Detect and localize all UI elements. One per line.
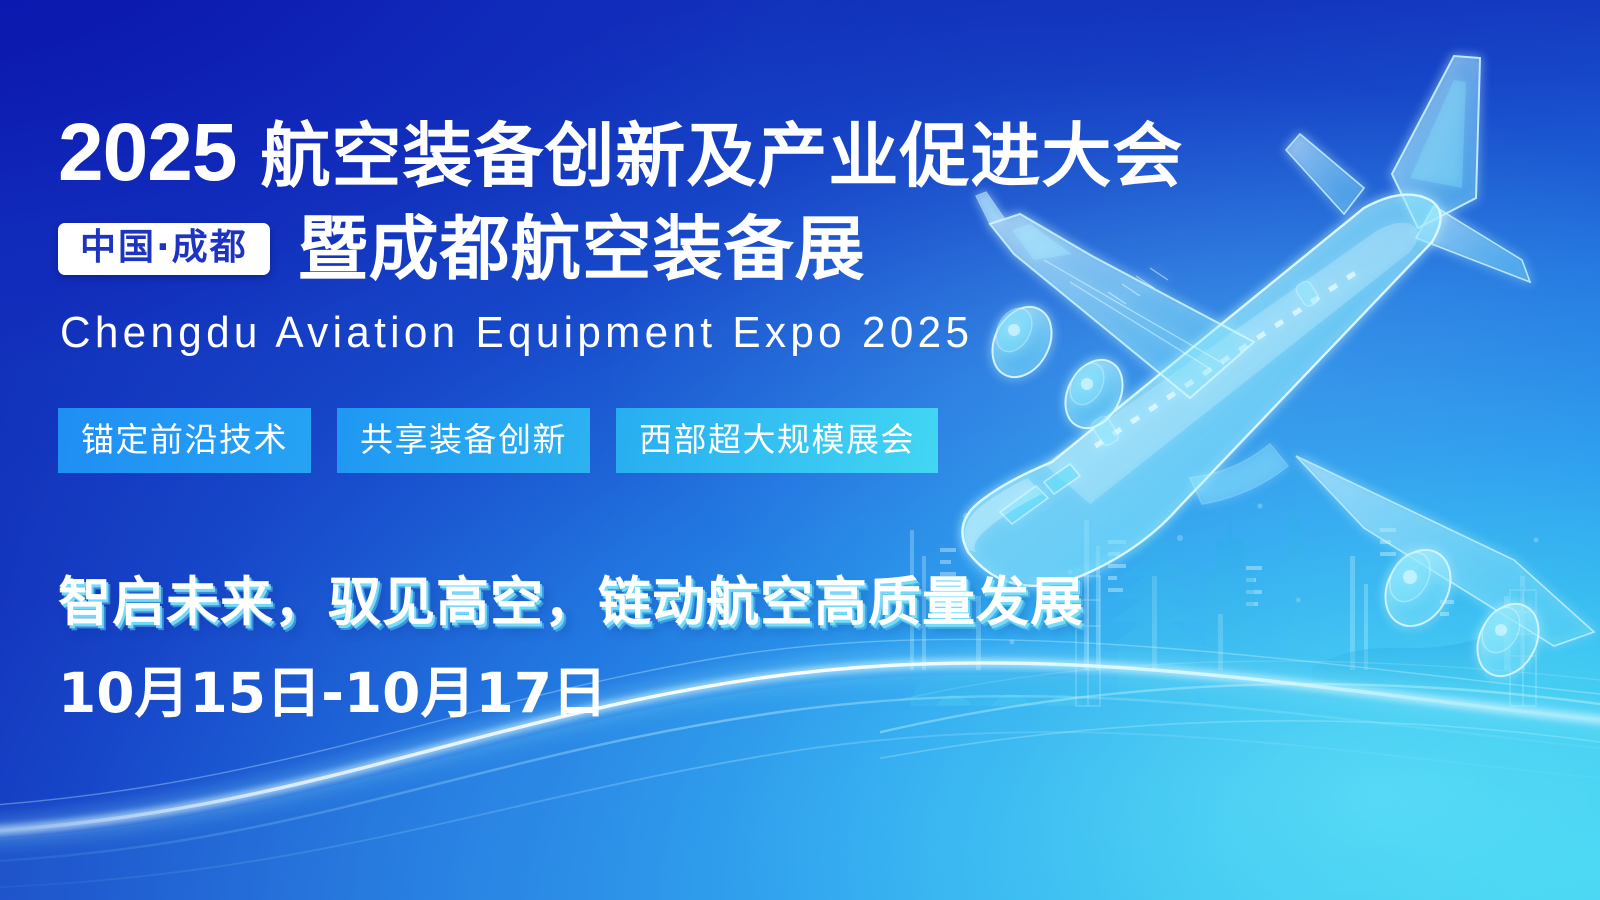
highlight-tag-1: 共享装备创新 — [337, 408, 590, 473]
highlight-tag-2: 西部超大规模展会 — [616, 408, 938, 473]
title-line-1: 2025 航空装备创新及产业促进大会 — [58, 112, 1183, 194]
event-year: 2025 — [58, 112, 236, 194]
event-title-main: 航空装备创新及产业促进大会 — [260, 121, 1183, 191]
event-dates: 10月15日-10月17日 — [58, 660, 607, 726]
event-slogan: 智启未来，驭见高空，链动航空高质量发展 — [58, 571, 1084, 635]
highlight-tag-list: 锚定前沿技术 共享装备创新 西部超大规模展会 — [58, 408, 938, 473]
tech-towers — [1076, 576, 1536, 706]
city-badge: 中国·成都 — [58, 223, 270, 275]
title-line-2: 中国·成都 暨成都航空装备展 — [58, 214, 866, 284]
banner-content: 2025 航空装备创新及产业促进大会 中国·成都 暨成都航空装备展 Chengd… — [58, 0, 1118, 900]
highlight-tag-0: 锚定前沿技术 — [58, 408, 311, 473]
event-title-sub: 暨成都航空装备展 — [298, 214, 866, 284]
event-banner: 2025 航空装备创新及产业促进大会 中国·成都 暨成都航空装备展 Chengd… — [0, 0, 1600, 900]
event-subtitle-english: Chengdu Aviation Equipment Expo 2025 — [60, 305, 973, 360]
